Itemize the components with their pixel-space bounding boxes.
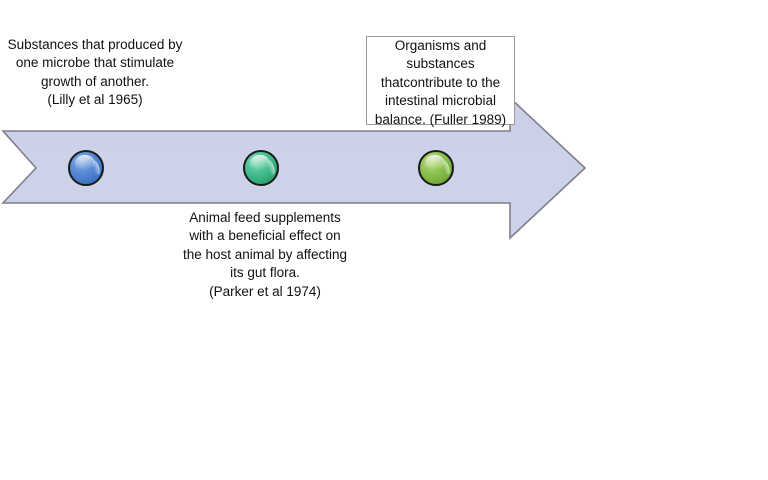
sphere-rim-highlight bbox=[441, 159, 452, 175]
caption-lilly-1965: Substances that produced by one microbe … bbox=[6, 36, 184, 110]
sphere-rim-highlight bbox=[266, 159, 277, 175]
sphere-rim-highlight bbox=[91, 159, 102, 175]
sphere-marker-teal bbox=[243, 150, 279, 186]
sphere-marker-blue bbox=[68, 150, 104, 186]
caption-parker-1974: Animal feed supplements with a beneficia… bbox=[181, 209, 349, 301]
caption-fuller-1989: Organisms and substances thatcontribute … bbox=[366, 36, 515, 125]
sphere-gloss-highlight bbox=[75, 155, 95, 170]
definition-timeline-diagram: Substances that produced by one microbe … bbox=[0, 0, 768, 480]
sphere-marker-green bbox=[418, 150, 454, 186]
sphere-gloss-highlight bbox=[250, 155, 270, 170]
sphere-gloss-highlight bbox=[425, 155, 445, 170]
